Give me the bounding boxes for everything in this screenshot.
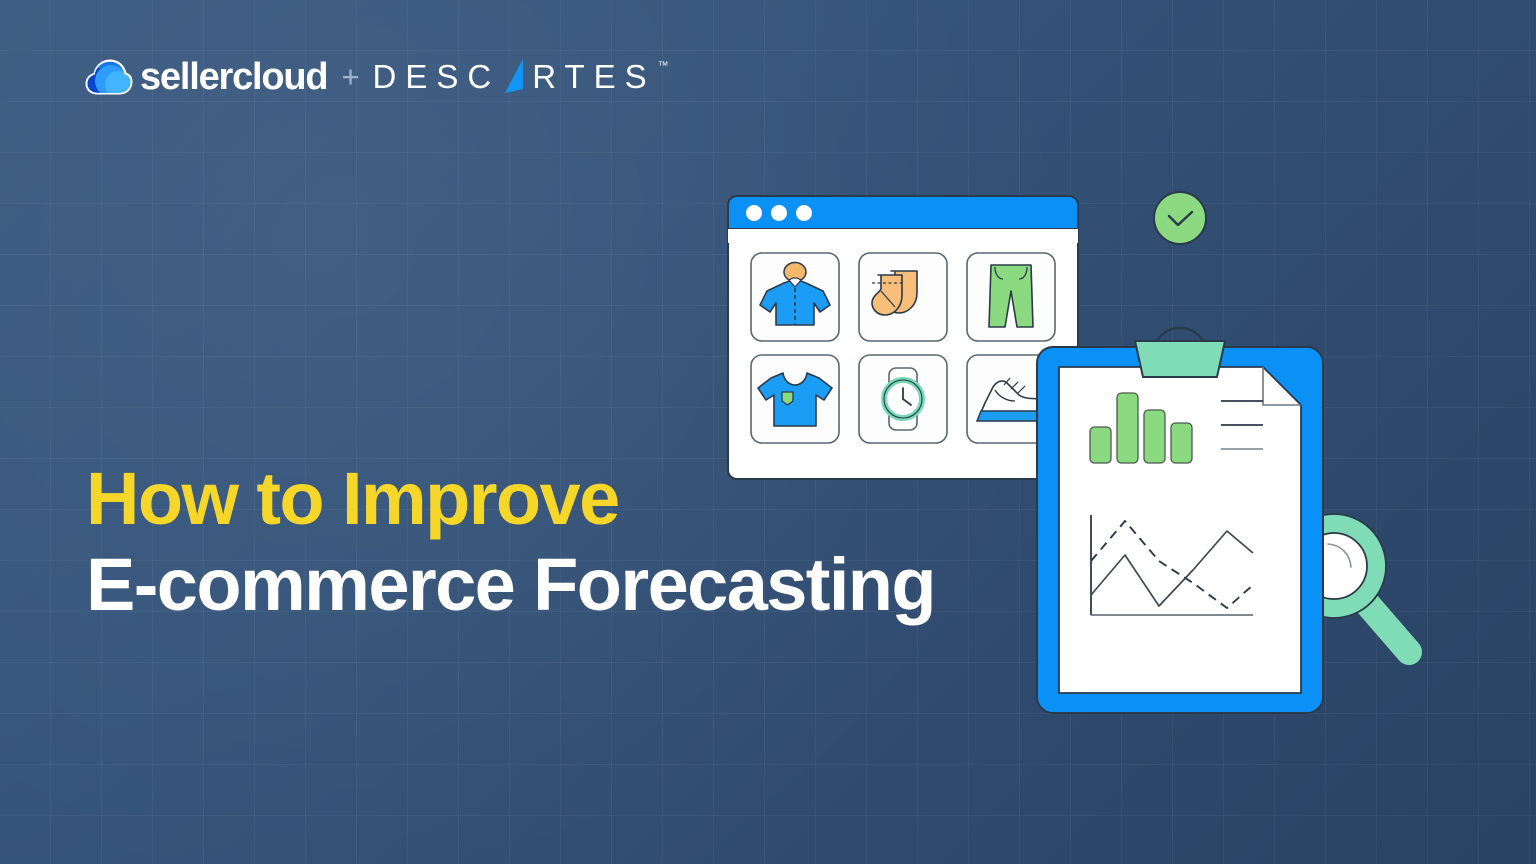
window-dot-2[interactable] [771,205,787,221]
product-tile-watch[interactable] [859,355,947,443]
trademark-mark: ™ [658,60,669,72]
product-catalog-window [727,195,1079,480]
status-badge [1152,190,1208,246]
sellercloud-cloud-icon [84,57,134,97]
watch-icon [884,368,922,430]
descartes-wordmark: DESC RTES ™ [373,57,669,97]
product-tile-socks[interactable] [859,253,947,341]
descartes-text-last: RTES [532,57,655,97]
check-circle-icon [1152,190,1208,246]
hero-illustration [700,170,1460,730]
descartes-text-first: DESC [373,57,501,97]
brand-logo-lockup: sellercloud + DESC RTES ™ [84,57,669,97]
window-dot-1[interactable] [746,205,762,221]
product-tile-jacket[interactable] [751,253,839,341]
product-tile-tshirt[interactable] [751,355,839,443]
descartes-sail-a-icon [502,59,525,95]
logo-plus-separator: + [341,57,359,97]
forecast-report-clipboard [1035,315,1325,715]
window-dot-3[interactable] [796,205,812,221]
sellercloud-wordmark: sellercloud [140,57,327,97]
clipboard-clip-icon [1135,341,1225,377]
window-controls [746,205,812,221]
